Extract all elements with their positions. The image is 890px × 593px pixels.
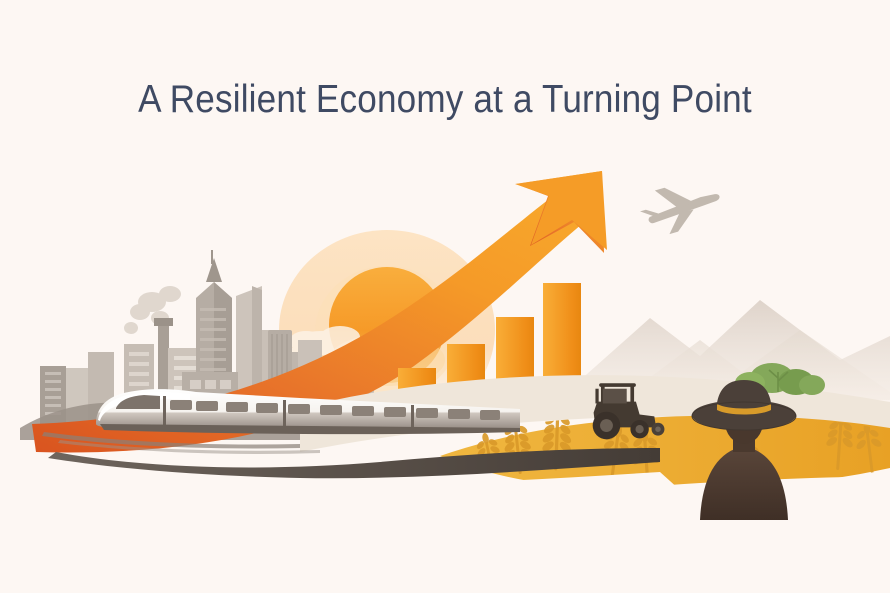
page-title: A Resilient Economy at a Turning Point	[45, 78, 846, 122]
poster-canvas: A Resilient Economy at a Turning Point	[0, 0, 890, 593]
